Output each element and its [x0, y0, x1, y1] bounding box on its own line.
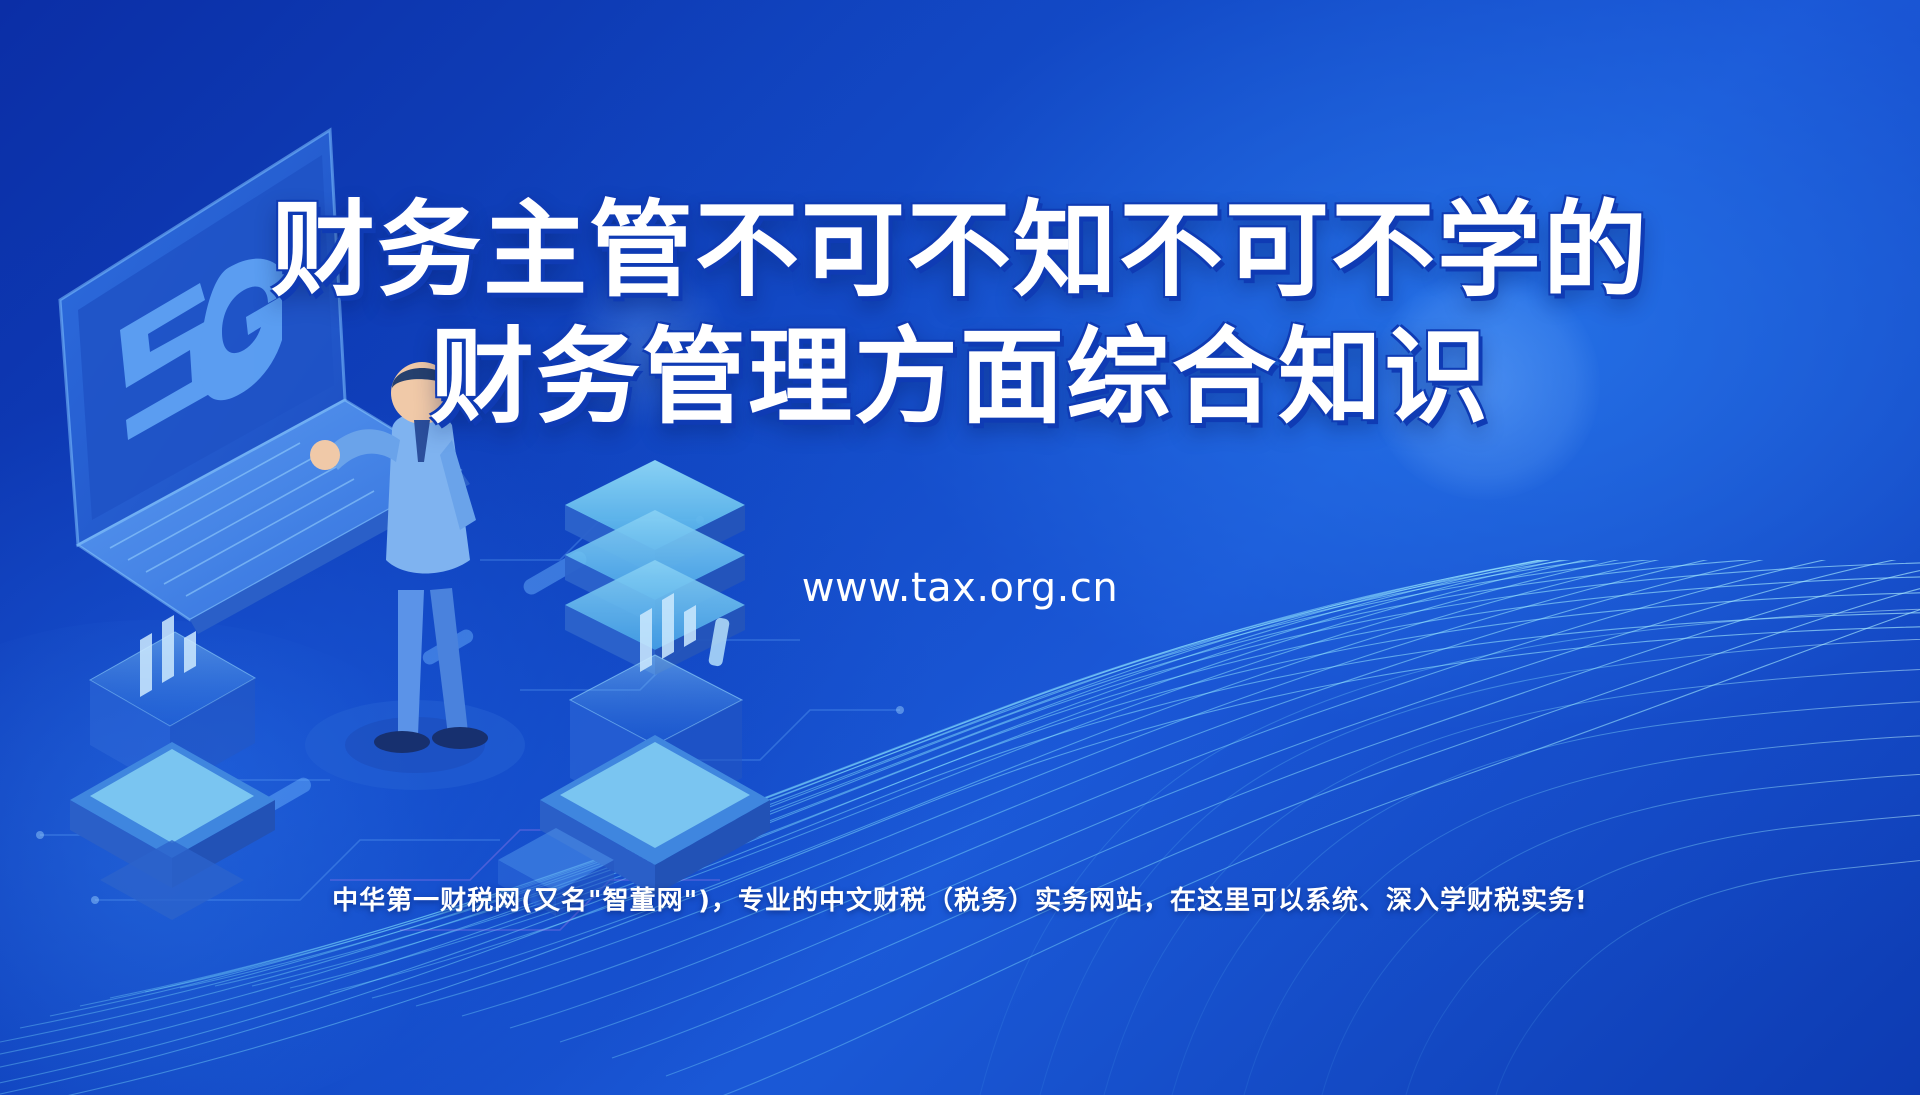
glow-decoration-left: [0, 620, 500, 1095]
database-illustration: [70, 615, 275, 920]
headline: 财务主管不可不知不可不学的 财务管理方面综合知识: [0, 190, 1920, 437]
website-url[interactable]: www.tax.org.cn: [0, 565, 1920, 611]
server-stack-illustration: [540, 460, 770, 895]
promo-banner: 财务主管不可不知不可不学的 财务管理方面综合知识 www.tax.org.cn …: [0, 0, 1920, 1095]
tagline: 中华第一财税网(又名"智董网")，专业的中文财税（税务）实务网站，在这里可以系统…: [0, 880, 1920, 917]
headline-line-1: 财务主管不可不知不可不学的: [0, 190, 1920, 311]
wire-mesh-illustration: [0, 0, 1920, 1095]
tech-isometric-illustration: [0, 0, 1920, 1095]
headline-line-2: 财务管理方面综合知识: [0, 317, 1920, 438]
